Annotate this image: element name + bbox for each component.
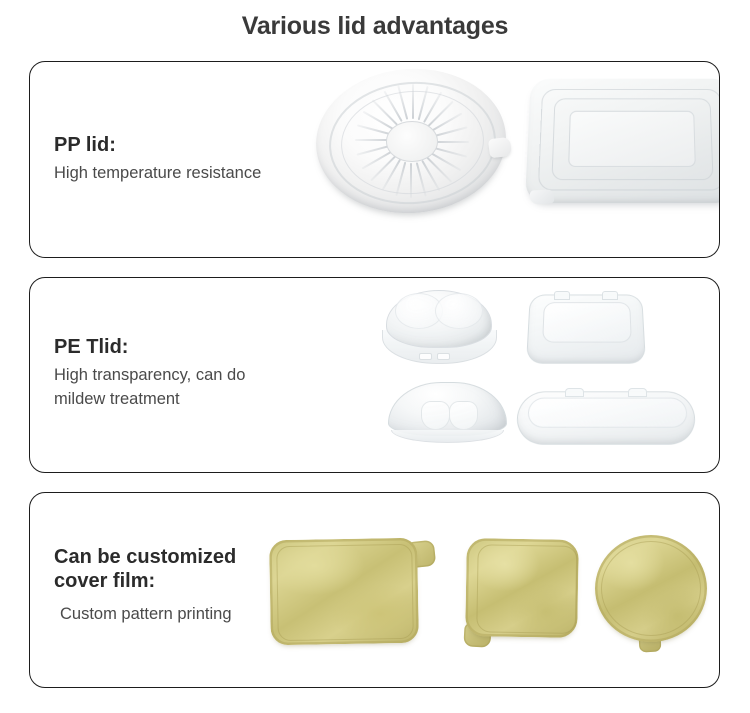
pet-lid-heading: PE Tlid: — [54, 336, 245, 360]
gold-foil-rectangular-lid-image — [270, 539, 435, 644]
pp-rect-lid-ring-outer — [538, 89, 720, 190]
pet-oval-lid-image — [517, 390, 695, 445]
pp-round-lid-center-hub — [386, 121, 437, 162]
pet-heart-lid-dome — [386, 290, 492, 348]
card-custom-cover-film: Can be customized cover film: Custom pat… — [29, 492, 720, 688]
pet-oval-lid-nub — [565, 388, 584, 397]
pet-square-lid-image — [528, 292, 644, 364]
pet-lid-text-block: PE Tlid: High transparency, can do milde… — [54, 336, 245, 411]
pet-square-lid-bump — [554, 291, 570, 300]
pp-round-lid-ribs — [316, 69, 506, 213]
pp-round-lid-inner-ring — [337, 86, 486, 198]
gold-foil-round-lid-tab — [639, 633, 662, 652]
gold-foil-rect-lid-inner-edge — [276, 544, 414, 641]
pet-heart-lid-notch — [437, 353, 450, 360]
pet-square-lid-bump — [602, 291, 618, 300]
pet-heart-lid-notch — [419, 353, 432, 360]
pp-rectangular-lid-image — [528, 76, 720, 202]
pet-round-dome-lid-inner-right — [449, 401, 478, 430]
cover-film-text-block: Can be customized cover film: Custom pat… — [54, 546, 236, 627]
pet-round-dome-lid-image — [388, 382, 505, 443]
pet-heart-dome-lid-image — [382, 290, 495, 368]
gold-foil-round-lid-plate — [595, 535, 707, 642]
pp-lid-heading: PP lid: — [54, 134, 261, 158]
card-pp-lid: PP lid: High temperature resistance — [29, 61, 720, 258]
pp-round-lid-disc — [311, 63, 511, 220]
pp-round-lid-image — [316, 69, 506, 213]
pp-lid-text-block: PP lid: High temperature resistance — [54, 134, 261, 186]
pet-round-dome-lid-base — [391, 430, 504, 443]
pp-rect-lid-corner-tab — [530, 189, 555, 204]
pet-oval-lid-top-panel — [527, 398, 687, 428]
pp-rect-lid-body — [525, 79, 720, 203]
gold-foil-square-lid-tab — [463, 622, 491, 647]
card-pet-lid: PE Tlid: High transparency, can do milde… — [29, 277, 720, 473]
page-title: Various lid advantages — [0, 0, 750, 41]
pet-square-lid-body — [526, 295, 646, 364]
pet-round-dome-lid-inner-left — [421, 401, 450, 430]
pp-round-lid-tab — [488, 137, 512, 159]
gold-foil-round-lid-image — [595, 535, 711, 653]
gold-foil-rect-lid-tab — [408, 540, 437, 569]
pp-round-lid-outer-ring — [325, 76, 500, 209]
gold-foil-square-lid-image — [462, 539, 582, 649]
cover-film-heading: Can be customized cover film: — [54, 546, 236, 593]
pet-round-dome-lid-cap — [388, 382, 507, 436]
pet-heart-lid-lobe-right — [435, 293, 483, 329]
gold-foil-square-lid-plate — [465, 538, 579, 638]
pet-square-lid-top-panel — [542, 302, 632, 343]
gold-foil-round-lid-inner-edge — [601, 541, 701, 636]
pp-rect-lid-center-panel — [568, 111, 695, 168]
pet-oval-lid-nub — [628, 388, 647, 397]
pet-heart-lid-skirt — [382, 330, 497, 364]
pp-lid-subtitle: High temperature resistance — [54, 162, 261, 186]
gold-foil-rect-lid-plate — [269, 538, 419, 646]
pp-rect-lid-ring-middle — [551, 99, 713, 180]
gold-foil-square-lid-inner-edge — [476, 544, 578, 634]
cover-film-subtitle: Custom pattern printing — [54, 597, 236, 627]
pet-lid-subtitle: High transparency, can do mildew treatme… — [54, 364, 245, 412]
pet-oval-lid-body — [515, 391, 697, 444]
pet-heart-lid-lobe-left — [395, 293, 443, 329]
